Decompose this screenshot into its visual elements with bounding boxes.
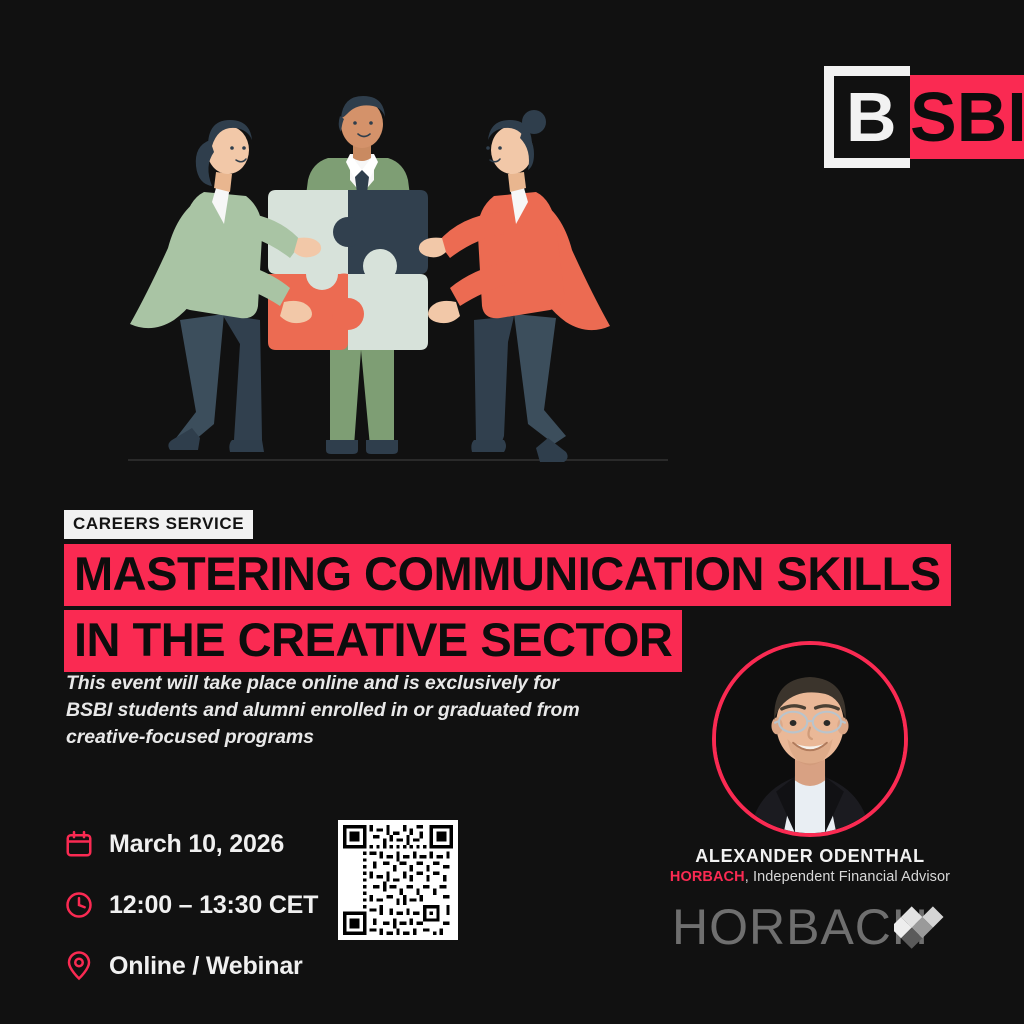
location-pin-icon xyxy=(64,951,94,981)
title-line-2: IN THE CREATIVE SECTOR xyxy=(64,610,682,672)
speaker-company: HORBACH xyxy=(670,869,745,885)
event-location: Online / Webinar xyxy=(109,952,303,981)
bsbi-letters-sbi: SBI xyxy=(910,78,1024,156)
title-line-1: MASTERING COMMUNICATION SKILLS xyxy=(64,544,951,606)
horbach-wordmark: HORBACH xyxy=(672,900,929,954)
event-poster: B SBI xyxy=(0,0,1024,1024)
event-date: March 10, 2026 xyxy=(109,830,284,859)
horbach-logo: HORBACH xyxy=(672,898,952,960)
event-details: March 10, 2026 12:00 – 13:30 CET Online … xyxy=(64,818,364,1001)
three-people-holding-puzzle-illustration xyxy=(118,88,678,478)
horbach-diamond-mark xyxy=(894,900,952,958)
speaker-role: HORBACH, Independent Financial Advisor xyxy=(620,869,1000,885)
event-time: 12:00 – 13:30 CET xyxy=(109,891,318,920)
qr-code[interactable] xyxy=(338,820,458,940)
figure-right-woman xyxy=(419,110,610,462)
detail-row-date: March 10, 2026 xyxy=(64,818,364,870)
speaker-role-text: , Independent Financial Advisor xyxy=(745,869,950,885)
speaker-name: ALEXANDER ODENTHAL xyxy=(620,846,1000,867)
clock-icon xyxy=(64,890,94,920)
bsbi-logo: B SBI xyxy=(824,66,1024,168)
speaker-portrait xyxy=(712,641,908,837)
bsbi-letter-b: B xyxy=(846,78,896,156)
puzzle-graphic xyxy=(268,190,428,350)
careers-service-badge: CAREERS SERVICE xyxy=(64,510,253,539)
calendar-icon xyxy=(64,829,94,859)
detail-row-location: Online / Webinar xyxy=(64,940,364,992)
detail-row-time: 12:00 – 13:30 CET xyxy=(64,879,364,931)
event-description: This event will take place online and is… xyxy=(66,670,606,751)
